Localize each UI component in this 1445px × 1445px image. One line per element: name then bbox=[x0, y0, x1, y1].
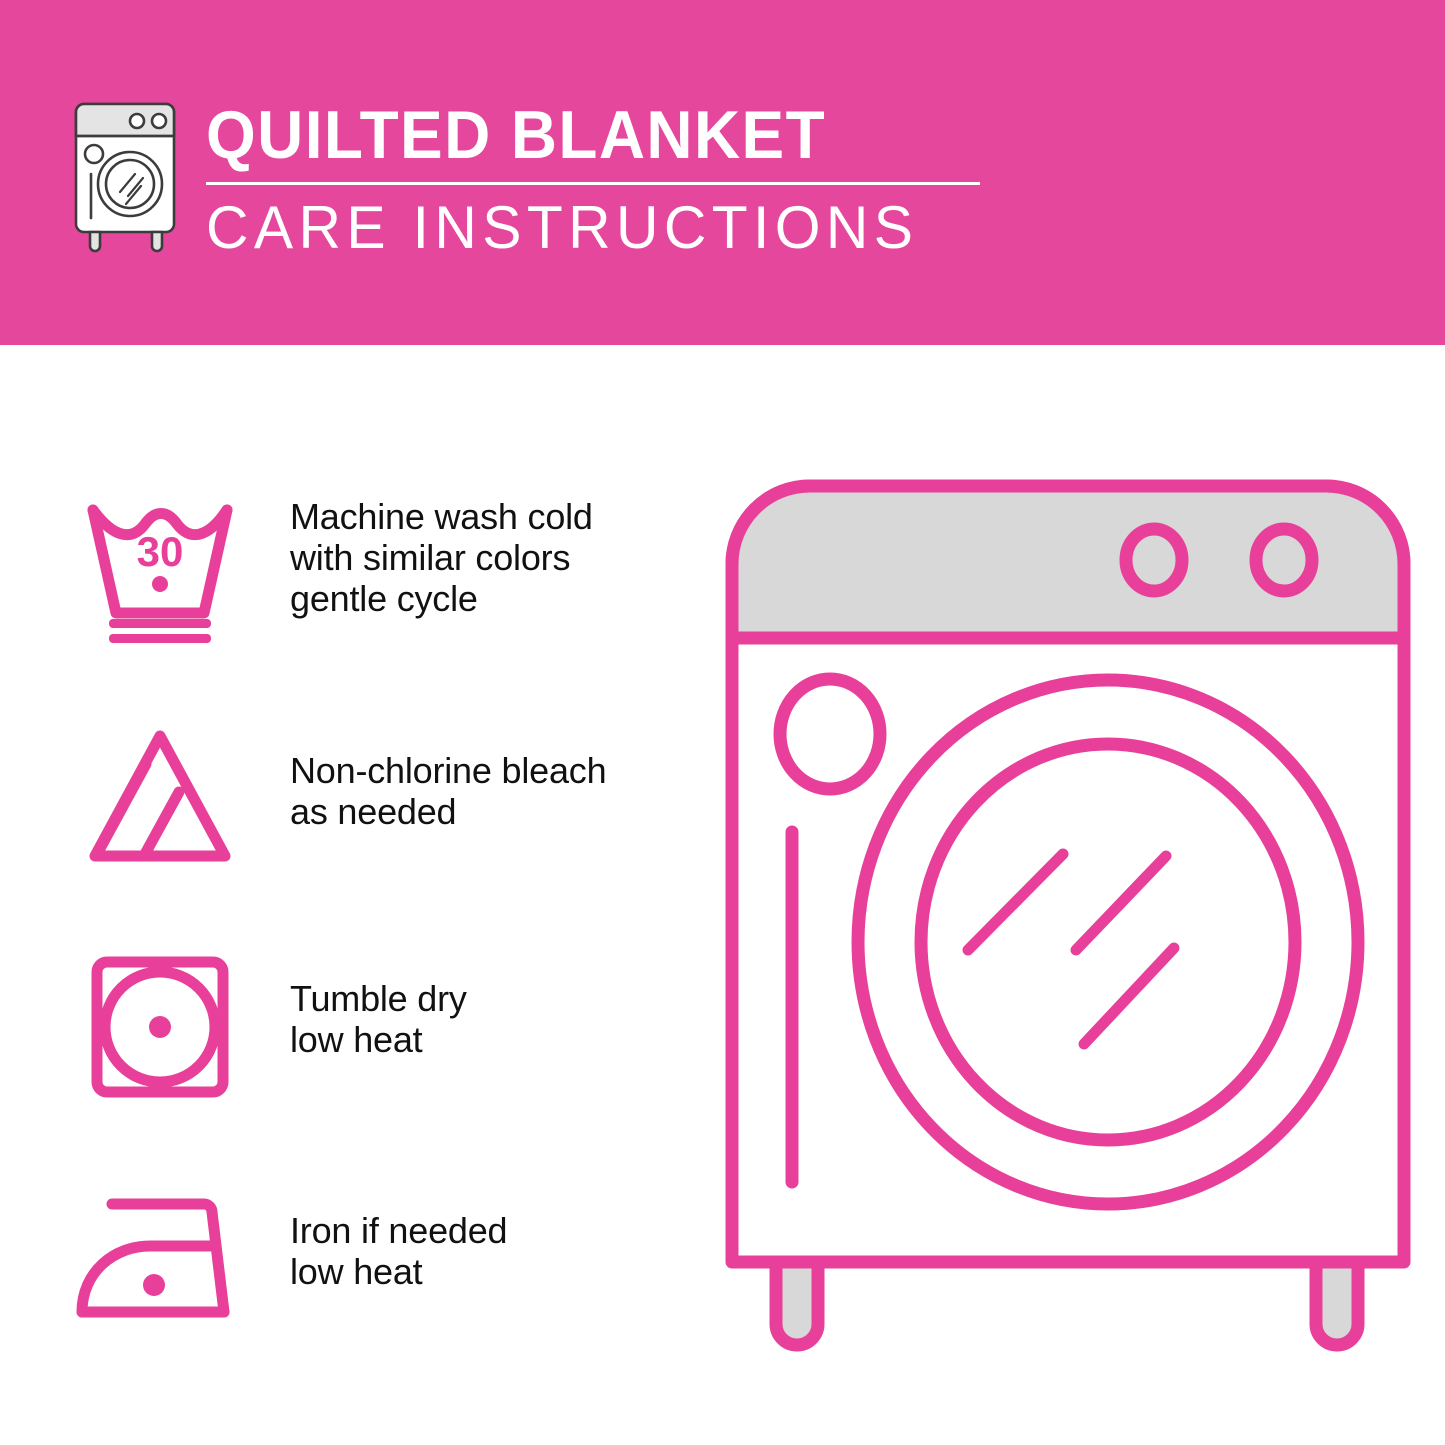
tumble-dry-low-icon bbox=[70, 952, 250, 1102]
washer-leg-right bbox=[1316, 1262, 1358, 1345]
care-item-label: Non-chlorine bleach as needed bbox=[290, 750, 690, 832]
wash-temp-value: 30 bbox=[137, 528, 184, 575]
care-item-label: Iron if needed low heat bbox=[290, 1210, 690, 1292]
wash-tub-30-gentle-icon: 30 bbox=[70, 488, 250, 638]
washer-indicator-light bbox=[780, 679, 880, 789]
header-content: QUILTED BLANKET CARE INSTRUCTIONS bbox=[62, 96, 980, 261]
care-item-bleach: Non-chlorine bleach as needed bbox=[62, 702, 702, 934]
washer-leg-left bbox=[776, 1262, 818, 1345]
care-item-label: Tumble dry low heat bbox=[290, 978, 690, 1060]
care-instructions-list: 30 Machine wash cold with similar colors… bbox=[62, 470, 702, 1398]
non-chlorine-bleach-triangle-icon bbox=[70, 720, 250, 870]
care-item-label: Machine wash cold with similar colors ge… bbox=[290, 496, 690, 619]
washing-machine-icon bbox=[62, 96, 188, 256]
header-title-block: QUILTED BLANKET CARE INSTRUCTIONS bbox=[206, 96, 980, 261]
care-item-tumble-dry: Tumble dry low heat bbox=[62, 934, 702, 1166]
care-item-machine-wash: 30 Machine wash cold with similar colors… bbox=[62, 470, 702, 702]
front-load-washing-machine-illustration bbox=[718, 472, 1418, 1362]
page-subtitle: CARE INSTRUCTIONS bbox=[206, 195, 965, 261]
washer-knob-2 bbox=[1256, 529, 1312, 591]
page-header: QUILTED BLANKET CARE INSTRUCTIONS bbox=[0, 0, 1445, 345]
care-instructions-page: QUILTED BLANKET CARE INSTRUCTIONS 30 bbox=[0, 0, 1445, 1445]
iron-low-heat-icon bbox=[70, 1184, 250, 1334]
washer-knob-1 bbox=[1126, 529, 1182, 591]
page-title: QUILTED BLANKET bbox=[206, 100, 934, 170]
care-item-iron: Iron if needed low heat bbox=[62, 1166, 702, 1398]
title-divider bbox=[206, 182, 980, 185]
